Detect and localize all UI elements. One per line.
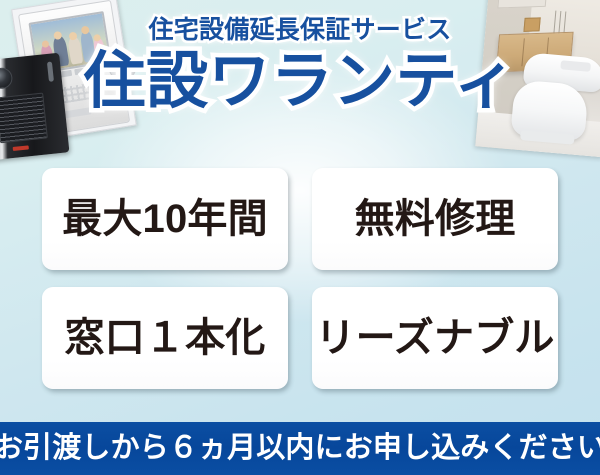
feature-box-max-years: 最大10年間 xyxy=(42,168,288,270)
banner-subtitle: 住宅設備延長保証サービス xyxy=(148,18,451,43)
intercom-door-station-icon xyxy=(0,53,69,161)
door-station-slot-icon xyxy=(47,61,54,81)
feature-label: リーズナブル xyxy=(315,318,554,358)
wall-shelf-icon xyxy=(497,0,546,8)
speaker-grille-icon xyxy=(0,93,48,144)
application-deadline-bar: お引渡しから６ヵ月以内にお申し込みください xyxy=(0,422,600,475)
video-intercom-photo xyxy=(0,0,150,157)
camera-lens-icon xyxy=(0,67,13,90)
application-deadline-text: お引渡しから６ヵ月以内にお申し込みください xyxy=(0,434,600,463)
feature-box-grid: 最大10年間 無料修理 窓口１本化 リーズナブル xyxy=(42,168,558,389)
toilet-icon xyxy=(506,51,600,151)
storage-box-icon xyxy=(523,17,540,32)
feature-label: 窓口１本化 xyxy=(65,318,266,358)
feature-box-single-contact: 窓口１本化 xyxy=(42,287,288,389)
feature-box-reasonable: リーズナブル xyxy=(312,287,558,389)
feature-label: 最大10年間 xyxy=(62,199,268,239)
call-button-icon xyxy=(13,145,29,151)
feature-box-free-repair: 無料修理 xyxy=(312,168,558,270)
feature-label: 無料修理 xyxy=(355,199,516,239)
toilet-photo xyxy=(475,0,600,157)
promo-banner: 住宅設備延長保証サービス 住設ワランティ 最大10年間 無料修理 窓口１本化 リ… xyxy=(0,0,600,475)
